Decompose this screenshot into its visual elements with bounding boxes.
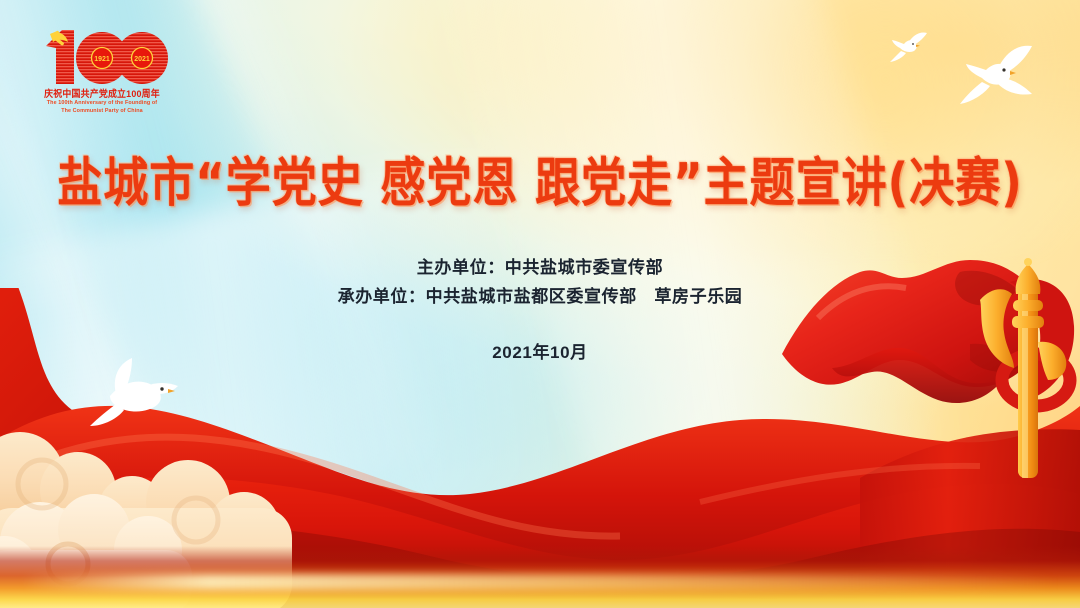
organizer-line-coorganizer: 承办单位：中共盐城市盐都区委宣传部 草房子乐园 — [0, 282, 1080, 311]
emblem-year-left: 1921 — [94, 56, 110, 63]
dove-top-right-small-icon — [888, 32, 928, 62]
dove-top-right-large-icon — [954, 44, 1038, 106]
warm-glow-top-right — [605, 0, 1080, 255]
organizer-line-host: 主办单位：中共盐城市委宣传部 — [0, 253, 1080, 282]
emblem-english-line-1: The 100th Anniversary of the Founding of — [36, 100, 168, 108]
auspicious-clouds — [0, 424, 312, 608]
emblem-english-line-2: The Communist Party of China — [36, 108, 168, 116]
emblem-chinese-caption: 庆祝中国共产党成立100周年 — [40, 86, 164, 100]
emblem-english-caption: The 100th Anniversary of the Founding of… — [36, 100, 168, 116]
cpc-100th-anniversary-emblem: 1921 2021 庆祝中国共产党成立100周年 The 100th Anniv… — [36, 24, 168, 122]
poster-date: 2021年10月 — [0, 338, 1080, 363]
emblem-100-number: 1921 2021 — [36, 24, 168, 86]
poster-canvas: 1921 2021 庆祝中国共产党成立100周年 The 100th Anniv… — [0, 0, 1080, 608]
poster-main-title: 盐城市“学党史 感党恩 跟党走”主题宣讲(决赛) — [0, 140, 1080, 215]
organizer-block: 主办单位：中共盐城市委宣传部 承办单位：中共盐城市盐都区委宣传部 草房子乐园 — [0, 253, 1080, 311]
emblem-year-right: 2021 — [134, 56, 150, 63]
